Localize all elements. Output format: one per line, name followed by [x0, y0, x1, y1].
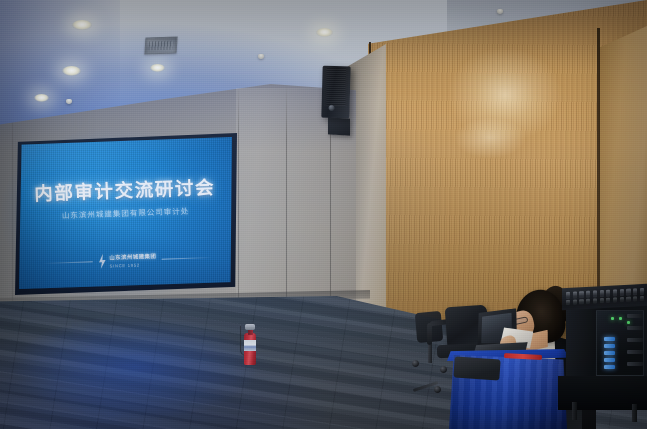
mixer-knob[interactable]: [613, 297, 617, 302]
slide-logo-row: 山东滨州城建集团 SINCE 1952: [42, 250, 211, 271]
mixer-knob[interactable]: [640, 288, 644, 295]
status-led-green: [619, 317, 622, 320]
speaker-driver-icon: [329, 105, 335, 111]
photograph-conference-room: 内部审计交流研讨会 山东滨州城建集团有限公司审计处 山东滨州城建集团 SINCE…: [0, 0, 647, 429]
status-led-blue: [604, 365, 615, 369]
status-led-blue: [604, 344, 615, 348]
slide-content: 内部审计交流研讨会 山东滨州城建集团有限公司审计处 山东滨州城建集团 SINCE…: [19, 137, 232, 289]
sprinkler-icon: [497, 9, 503, 14]
sprinkler-icon: [66, 99, 72, 104]
extinguisher-valve: [245, 324, 255, 330]
mixer-knob[interactable]: [593, 290, 597, 297]
ceiling-downlight: [150, 64, 165, 72]
audio-mixer-console[interactable]: [562, 284, 647, 310]
mixer-knob[interactable]: [600, 290, 604, 297]
mixer-knob[interactable]: [613, 289, 617, 296]
mixer-knob[interactable]: [579, 291, 583, 298]
air-vent: [144, 36, 177, 54]
logo-company-name-en: SINCE 1952: [109, 262, 156, 269]
status-led-green: [611, 317, 614, 320]
company-logo: 山东滨州城建集团 SINCE 1952: [98, 252, 157, 269]
logo-company-name-cn: 山东滨州城建集团: [109, 252, 156, 262]
rack-module-slot[interactable]: [627, 326, 643, 330]
rack-leg: [632, 404, 637, 422]
extinguisher-label: [244, 340, 256, 351]
wall-speaker: [321, 66, 350, 119]
mixer-knob[interactable]: [579, 299, 583, 304]
mixer-knob[interactable]: [586, 291, 590, 298]
mixer-knob[interactable]: [620, 297, 624, 302]
rack-leg: [572, 402, 577, 420]
speaker-mount-bracket: [328, 117, 350, 135]
rack-module-slot[interactable]: [627, 314, 643, 318]
mixer-knob[interactable]: [633, 296, 637, 301]
status-led-blue: [604, 351, 615, 355]
mixer-knob[interactable]: [626, 289, 630, 296]
slide-subtitle: 山东滨州城建集团有限公司审计处: [19, 204, 232, 223]
mixer-knob[interactable]: [566, 292, 570, 299]
speaker-grille: [324, 68, 349, 107]
chair-caster: [434, 386, 441, 393]
ceiling-downlight: [34, 94, 49, 102]
logo-text-block: 山东滨州城建集团 SINCE 1952: [109, 252, 157, 268]
rack-module-slot[interactable]: [627, 338, 643, 342]
status-led-blue: [604, 358, 615, 362]
rack-module-slot[interactable]: [627, 350, 643, 354]
chair-caster: [440, 366, 447, 373]
sprinkler-icon: [258, 54, 264, 59]
fire-extinguisher: [243, 322, 257, 365]
status-led-green: [627, 321, 630, 324]
mixer-knob[interactable]: [566, 300, 570, 305]
mixer-knob[interactable]: [573, 299, 577, 304]
rack-front-panel: [596, 310, 644, 376]
mixer-knob[interactable]: [573, 291, 577, 298]
ceiling-downlight: [316, 28, 333, 37]
mixer-knob[interactable]: [586, 299, 590, 304]
chair-armrest-post: [427, 323, 432, 345]
logo-divider-left: [43, 261, 93, 264]
mixer-knob[interactable]: [640, 296, 644, 301]
mixer-knob[interactable]: [620, 289, 624, 296]
lightning-bolt-icon: [98, 254, 108, 269]
slide-title: 内部审计交流研讨会: [19, 173, 232, 207]
status-led-blue: [604, 337, 615, 341]
presentation-screen[interactable]: 内部审计交流研讨会 山东滨州城建集团有限公司审计处 山东滨州城建集团 SINCE…: [19, 137, 232, 289]
mixer-knob[interactable]: [626, 297, 630, 302]
mousepad: [453, 356, 500, 380]
mixer-knob[interactable]: [606, 298, 610, 303]
rack-module-slot[interactable]: [627, 362, 643, 366]
mixer-knob[interactable]: [633, 288, 637, 295]
chair-caster: [412, 360, 419, 367]
mixer-knob[interactable]: [593, 298, 597, 303]
mixer-knob[interactable]: [600, 298, 604, 303]
mixer-knob[interactable]: [606, 290, 610, 297]
logo-divider-right: [161, 257, 211, 260]
fader-led-column[interactable]: [604, 337, 615, 369]
ceiling-downlight: [72, 20, 92, 30]
ceiling-downlight: [62, 66, 81, 76]
